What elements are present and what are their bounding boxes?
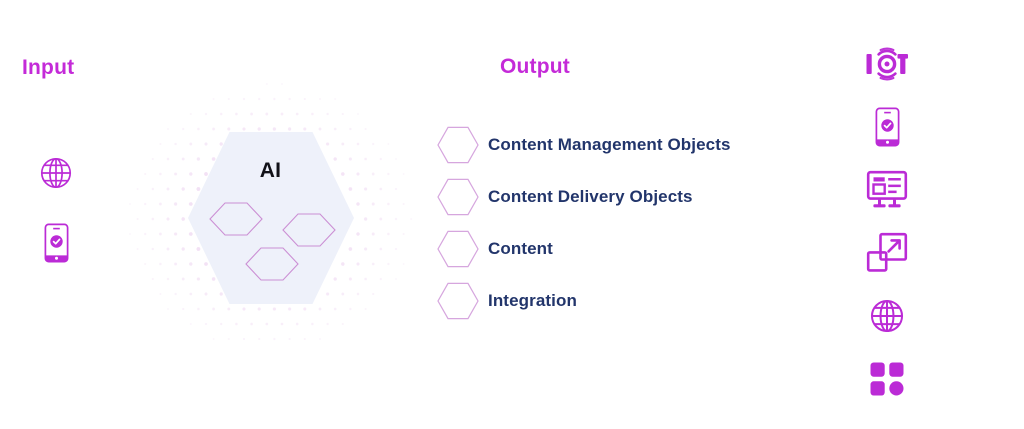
output-heading: Output bbox=[500, 55, 570, 79]
list-item-label: Content Management Objects bbox=[488, 135, 731, 155]
list-item-label: Content Delivery Objects bbox=[488, 187, 693, 207]
output-icon-column bbox=[863, 40, 911, 403]
list-item-label: Integration bbox=[488, 291, 577, 311]
diagram-canvas: Input bbox=[0, 0, 1024, 429]
list-item[interactable]: Content bbox=[437, 228, 731, 270]
mobile-check-icon bbox=[33, 220, 79, 266]
scale-expand-icon bbox=[863, 229, 911, 277]
app-grid-icon bbox=[863, 355, 911, 403]
ai-label: AI bbox=[188, 159, 354, 183]
globe-icon bbox=[863, 292, 911, 340]
input-icon-column bbox=[33, 150, 79, 266]
globe-icon bbox=[33, 150, 79, 196]
display-board-icon bbox=[863, 166, 911, 214]
hexagon-bullet-icon bbox=[437, 124, 479, 166]
ai-hexagon: AI bbox=[188, 128, 354, 308]
output-list: Content Management Objects Content Deliv… bbox=[437, 124, 731, 322]
list-item-label: Content bbox=[488, 239, 553, 259]
hexagon-bullet-icon bbox=[437, 176, 479, 218]
iot-icon bbox=[863, 40, 911, 88]
list-item[interactable]: Content Delivery Objects bbox=[437, 176, 731, 218]
list-item[interactable]: Integration bbox=[437, 280, 731, 322]
hexagon-bullet-icon bbox=[437, 228, 479, 270]
mobile-check-icon bbox=[863, 103, 911, 151]
input-heading: Input bbox=[22, 56, 74, 80]
list-item[interactable]: Content Management Objects bbox=[437, 124, 731, 166]
ai-cluster: AI bbox=[128, 80, 413, 355]
hexagon-bullet-icon bbox=[437, 280, 479, 322]
